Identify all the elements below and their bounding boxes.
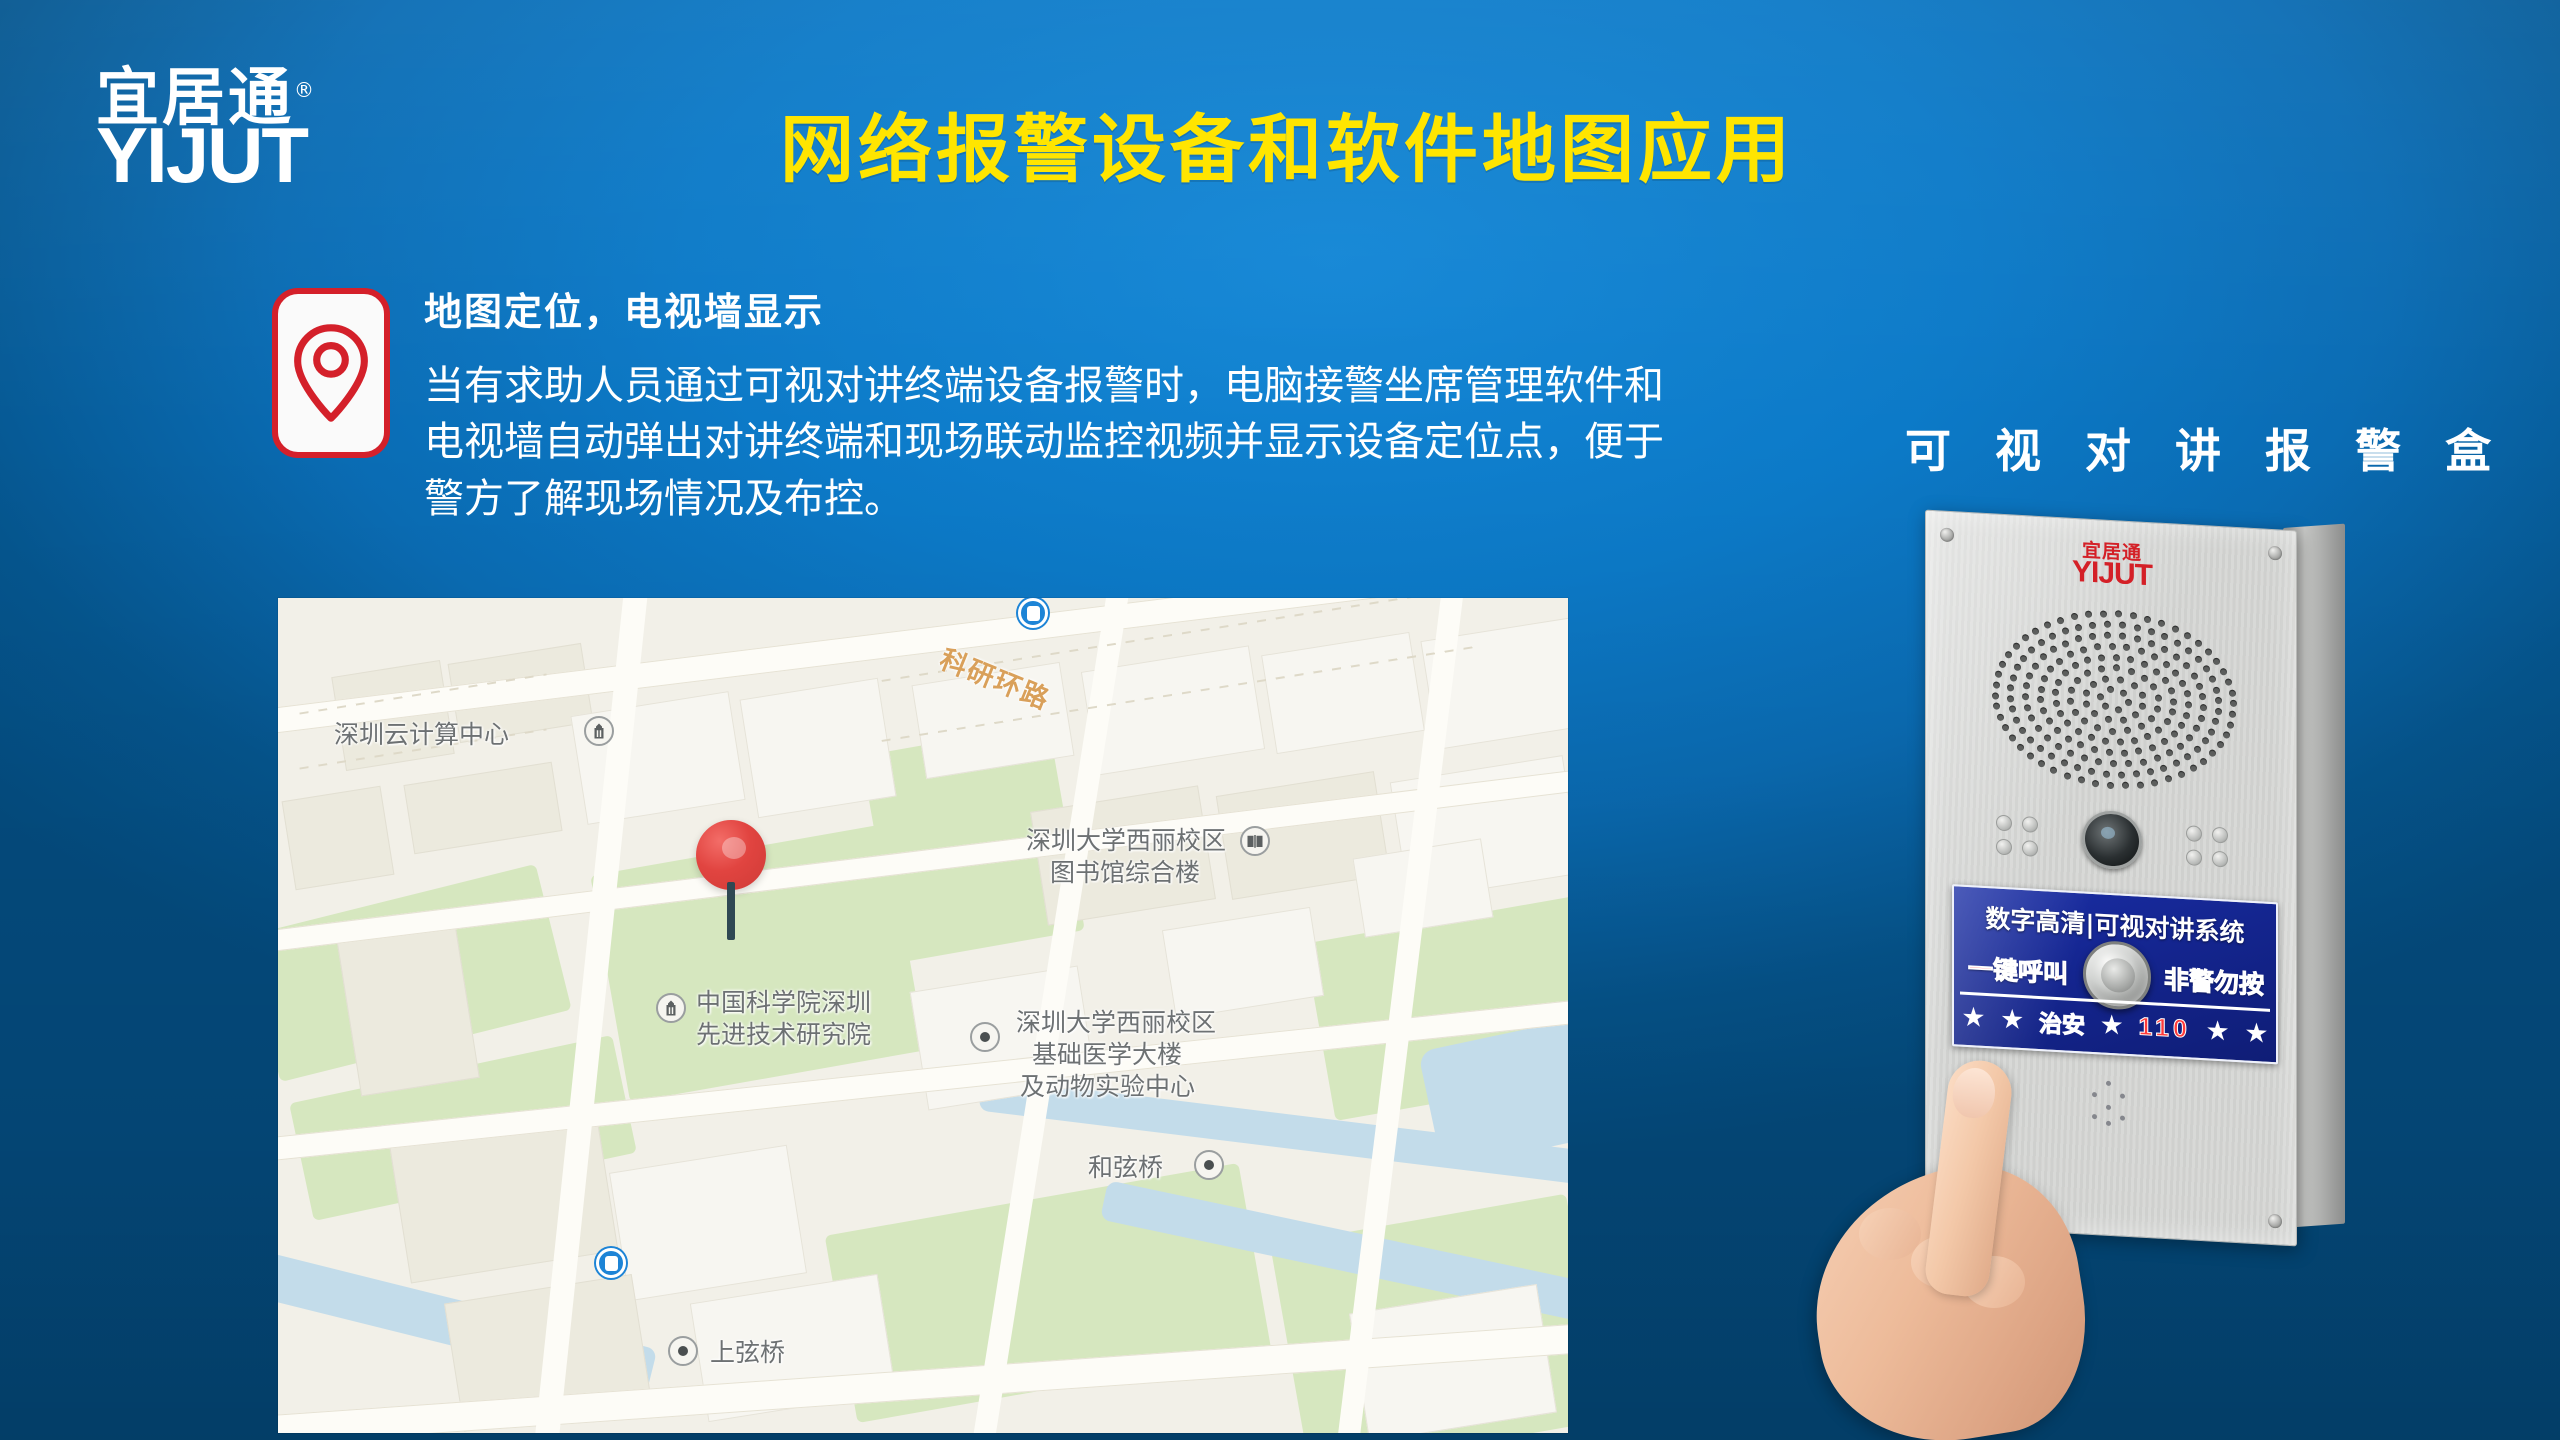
speaker-hole — [2123, 644, 2130, 651]
ir-led-icon — [1996, 815, 2012, 832]
speaker-hole — [2102, 737, 2109, 744]
speaker-hole — [2148, 640, 2155, 647]
speaker-hole — [2213, 658, 2220, 665]
ir-led-icon — [2186, 825, 2202, 842]
building-icon[interactable] — [584, 716, 614, 746]
speaker-hole — [2019, 726, 2026, 733]
speaker-hole — [2209, 750, 2216, 757]
speaker-hole — [2117, 676, 2124, 683]
speaker-hole — [2107, 781, 2114, 788]
speaker-hole — [2038, 639, 2045, 646]
speaker-hole — [2117, 739, 2124, 746]
speaker-hole — [2072, 708, 2079, 715]
speaker-hole — [1992, 692, 1999, 699]
ir-led-icon — [2212, 827, 2228, 844]
screw-icon — [2268, 1214, 2282, 1229]
speaker-hole — [2171, 731, 2178, 738]
hand-knuckle — [1911, 1236, 1973, 1288]
speaker-hole — [2124, 727, 2131, 734]
speaker-hole — [2148, 715, 2155, 722]
speaker-hole — [2040, 654, 2047, 661]
speaker-hole — [2161, 646, 2168, 653]
speaker-hole — [2223, 731, 2230, 738]
map-label-szu-medical-line3: 及动物实验中心 — [1020, 1072, 1195, 1103]
speaker-hole — [2173, 654, 2180, 661]
speaker-hole — [2052, 689, 2059, 696]
speaker-hole — [2074, 677, 2081, 684]
speaker-hole — [2067, 698, 2074, 705]
speaker-hole — [2057, 617, 2064, 624]
speaker-hole — [2106, 749, 2113, 756]
speaker-hole — [2032, 627, 2039, 634]
speaker-hole — [2113, 664, 2120, 671]
speaker-hole — [2170, 698, 2177, 705]
camera-lens-icon — [2082, 809, 2142, 870]
speaker-hole — [2173, 760, 2180, 767]
speaker-hole — [2017, 743, 2024, 750]
speaker-hole — [2056, 658, 2063, 665]
device-label-panel: 数字高清|可视对讲系统 一键呼叫 非警勿按 ★ ★ 治安 ★ 110 ★ ★ — [1952, 884, 2278, 1064]
map-label-szu-medical-line2: 基础医学大楼 — [1032, 1040, 1182, 1071]
speaker-hole — [2109, 643, 2116, 650]
speaker-hole — [2198, 715, 2205, 722]
feature-heading: 地图定位，电视墙显示 — [424, 290, 1679, 336]
speaker-hole — [2165, 775, 2172, 782]
ir-led-icon — [2022, 840, 2038, 857]
speaker-hole — [2067, 749, 2074, 756]
speaker-hole — [2098, 665, 2105, 672]
speaker-hole — [2161, 633, 2168, 640]
microphone-vent-holes — [2086, 1080, 2132, 1125]
vent-hole — [2120, 1116, 2125, 1121]
hand-knuckle — [1859, 1208, 1921, 1260]
speaker-hole — [2089, 622, 2096, 629]
feature-block: 地图定位，电视墙显示 当有求助人员通过可视对讲终端设备报警时，电脑接警坐席管理软… — [272, 288, 1692, 528]
map-screenshot[interactable]: 深圳云计算中心 科研环路 深圳大学西丽校区 图书馆综合楼 中国科学院深圳 先进技… — [278, 598, 1568, 1433]
speaker-hole — [2151, 779, 2158, 786]
speaker-hole — [2172, 670, 2179, 677]
screw-icon — [2268, 546, 2282, 561]
speaker-hole — [2080, 646, 2087, 653]
speaker-hole — [2109, 728, 2116, 735]
speaker-hole — [2113, 654, 2120, 661]
vent-hole — [2106, 1081, 2111, 1086]
map-label-siat-line1: 中国科学院深圳 — [696, 988, 871, 1019]
speaker-hole — [2009, 706, 2016, 713]
ir-led-icon — [2212, 851, 2228, 868]
speaker-hole — [2125, 760, 2132, 767]
speaker-hole — [2120, 716, 2127, 723]
speaker-hole — [2050, 766, 2057, 773]
speaker-hole — [2057, 710, 2064, 717]
vent-hole — [2106, 1121, 2111, 1126]
speaker-hole — [2162, 677, 2169, 684]
speaker-hole — [2098, 654, 2105, 661]
speaker-hole — [1997, 714, 2004, 721]
speaker-hole — [2141, 661, 2148, 668]
star-icon: ★ — [2100, 1009, 2124, 1041]
speaker-hole — [2125, 699, 2132, 706]
speaker-hole — [2081, 755, 2088, 762]
alarm-device-location-pin[interactable] — [696, 820, 772, 942]
speaker-hole — [2040, 707, 2047, 714]
speaker-hole — [2068, 687, 2075, 694]
speaker-hole — [2195, 656, 2202, 663]
speaker-hole — [2062, 669, 2069, 676]
map-label-szu-medical-line1: 深圳大学西丽校区 — [1016, 1008, 1216, 1039]
map-label-szu-library-line1: 深圳大学西丽校区 — [1026, 826, 1226, 857]
public-safety-badge: 治安 — [2039, 1004, 2085, 1041]
speaker-hole — [2196, 682, 2203, 689]
speaker-hole — [2038, 686, 2045, 693]
speaker-hole — [2141, 674, 2148, 681]
speaker-hole — [2115, 706, 2122, 713]
speaker-hole — [2084, 669, 2091, 676]
map-label-layer: 深圳云计算中心 科研环路 深圳大学西丽校区 图书馆综合楼 中国科学院深圳 先进技… — [278, 598, 1568, 1433]
speaker-hole — [2022, 634, 2029, 641]
speaker-hole — [2217, 741, 2224, 748]
speaker-hole — [2169, 708, 2176, 715]
speaker-hole — [1993, 703, 2000, 710]
bus-stop-icon[interactable] — [1018, 598, 1048, 628]
speaker-hole — [2151, 654, 2158, 661]
speaker-hole — [1995, 671, 2002, 678]
speaker-hole — [2220, 668, 2227, 675]
speaker-hole — [2103, 770, 2110, 777]
speaker-hole — [2041, 675, 2048, 682]
speaker-hole — [2102, 703, 2109, 710]
star-icon: ★ — [2000, 1003, 2024, 1035]
speaker-hole — [2154, 705, 2161, 712]
ir-led-icon — [2186, 849, 2202, 866]
speaker-hole — [2027, 736, 2034, 743]
speaker-hole — [2107, 686, 2114, 693]
speaker-hole — [2134, 635, 2141, 642]
speaker-hole — [2191, 672, 2198, 679]
screw-icon — [1940, 527, 1954, 542]
speaker-hole — [2047, 666, 2054, 673]
speaker-hole — [2105, 716, 2112, 723]
device-brand-logo: 宜居通 YIJUT — [2022, 538, 2202, 594]
speaker-hole — [2104, 632, 2111, 639]
speaker-hole — [2083, 701, 2090, 708]
logo-english-label: YIJUT — [96, 121, 436, 190]
speaker-hole — [2227, 721, 2234, 728]
speaker-hole — [2127, 656, 2134, 663]
speaker-hole — [2131, 737, 2138, 744]
speaker-hole — [2202, 737, 2209, 744]
speaker-hole — [2144, 733, 2151, 740]
speaker-hole — [2061, 759, 2068, 766]
speaker-hole — [2044, 734, 2051, 741]
product-title: 可 视 对 讲 报 警 盒 — [1905, 415, 2525, 481]
speaker-hole — [2054, 727, 2061, 734]
speaker-hole — [2160, 765, 2167, 772]
speaker-hole — [2212, 718, 2219, 725]
speaker-hole — [2140, 758, 2147, 765]
speaker-hole — [2139, 691, 2146, 698]
speaker-hole — [2185, 701, 2192, 708]
speaker-hole — [2037, 696, 2044, 703]
ir-led-icon — [2022, 816, 2038, 833]
camera-module — [1996, 805, 2228, 878]
pin-highlight — [722, 837, 746, 859]
speaker-hole — [2065, 735, 2072, 742]
speaker-hole — [2064, 772, 2071, 779]
speaker-hole — [2155, 727, 2162, 734]
speaker-hole — [2002, 724, 2009, 731]
speaker-grille — [1982, 594, 2240, 798]
speaker-hole — [2166, 749, 2173, 756]
speaker-hole — [2104, 621, 2111, 628]
video-intercom-alarm-box: 宜居通 YIJUT 数字高清|可视对讲系统 一键呼叫 非警勿按 — [1925, 520, 2345, 1240]
speaker-hole — [2062, 627, 2069, 634]
speaker-hole — [2194, 746, 2201, 753]
map-road-label-keyan-ring-road: 科研环路 — [935, 638, 1057, 718]
feature-text-group: 地图定位，电视墙显示 当有求助人员通过可视对讲终端设备报警时，电脑接警坐席管理软… — [424, 288, 1679, 528]
speaker-hole — [2067, 651, 2074, 658]
slide-root: 宜居通® YIJUT 网络报警设备和软件地图应用 地图定位，电视墙显示 当有求助… — [0, 0, 2560, 1440]
speaker-hole — [2088, 734, 2095, 741]
speaker-hole — [2064, 719, 2071, 726]
speaker-hole — [2049, 632, 2056, 639]
speaker-hole — [2005, 651, 2012, 658]
speaker-hole — [2163, 661, 2170, 668]
speaker-hole — [2084, 657, 2091, 664]
speaker-hole — [2075, 635, 2082, 642]
speaker-hole — [2149, 744, 2156, 751]
speaker-hole — [2081, 718, 2088, 725]
speaker-hole — [2128, 668, 2135, 675]
speaker-hole — [2074, 764, 2081, 771]
map-label-hexian-bridge: 和弦桥 — [1088, 1153, 1163, 1184]
speaker-hole — [2203, 666, 2210, 673]
speaker-hole — [2055, 678, 2062, 685]
map-label-cloud-computing-center: 深圳云计算中心 — [334, 720, 509, 751]
speaker-hole — [2132, 711, 2139, 718]
speaker-hole — [2090, 681, 2097, 688]
pin-stem — [727, 882, 735, 940]
star-icon: ★ — [1961, 1001, 1985, 1033]
emergency-number-label: 110 — [2139, 1012, 2191, 1044]
speaker-hole — [2007, 695, 2014, 702]
speaker-hole — [2110, 760, 2117, 767]
speaker-hole — [2078, 776, 2085, 783]
speaker-hole — [2072, 662, 2079, 669]
speaker-hole — [2190, 765, 2197, 772]
device-front-panel: 宜居通 YIJUT 数字高清|可视对讲系统 一键呼叫 非警勿按 — [1925, 510, 2297, 1247]
speaker-hole — [2024, 704, 2031, 711]
hand-knuckle — [1963, 1256, 2025, 1308]
speaker-hole — [1999, 661, 2006, 668]
company-logo: 宜居通® YIJUT — [96, 66, 436, 190]
speaker-hole — [2131, 682, 2138, 689]
speaker-hole — [2071, 613, 2078, 620]
speaker-hole — [2229, 689, 2236, 696]
speaker-hole — [2154, 755, 2161, 762]
dot-marker-icon[interactable] — [970, 1022, 1000, 1052]
speaker-hole — [2062, 640, 2069, 647]
speaker-hole — [2193, 725, 2200, 732]
speaker-hole — [2118, 771, 2125, 778]
dot-marker-icon[interactable] — [1194, 1150, 1224, 1180]
speaker-hole — [2097, 693, 2104, 700]
speaker-hole — [2230, 700, 2237, 707]
speaker-hole — [2094, 724, 2101, 731]
speaker-hole — [2014, 664, 2021, 671]
speaker-hole — [2053, 699, 2060, 706]
library-book-icon[interactable] — [1240, 826, 1270, 856]
speaker-hole — [2186, 734, 2193, 741]
speaker-hole — [2100, 610, 2107, 617]
speaker-hole — [2009, 734, 2016, 741]
building-icon[interactable] — [656, 993, 686, 1023]
speaker-hole — [2144, 616, 2151, 623]
speaker-hole — [2135, 748, 2142, 755]
speaker-hole — [2139, 702, 2146, 709]
speaker-hole — [2050, 646, 2057, 653]
speaker-hole — [2153, 668, 2160, 675]
speaker-hole — [2195, 640, 2202, 647]
speaker-hole — [2027, 752, 2034, 759]
speaker-hole — [2147, 768, 2154, 775]
speaker-hole — [2178, 722, 2185, 729]
speaker-hole — [2215, 708, 2222, 715]
speaker-hole — [2091, 746, 2098, 753]
map-label-shangxian-bridge: 上弦桥 — [710, 1338, 785, 1369]
speaker-hole — [2013, 716, 2020, 723]
speaker-hole — [2134, 624, 2141, 631]
speaker-hole — [2172, 626, 2179, 633]
speaker-hole — [2184, 753, 2191, 760]
speaker-hole — [2055, 742, 2062, 749]
map-label-szu-library-line2: 图书馆综合楼 — [1050, 858, 1200, 889]
speaker-hole — [2077, 742, 2084, 749]
emergency-star-row: ★ ★ 治安 ★ 110 ★ ★ — [1954, 994, 2276, 1056]
speaker-hole — [2183, 712, 2190, 719]
vent-hole — [2092, 1114, 2097, 1119]
speaker-hole — [2115, 611, 2122, 618]
speaker-hole — [2200, 758, 2207, 765]
speaker-hole — [2178, 771, 2185, 778]
speaker-hole — [2168, 687, 2175, 694]
speaker-hole — [2028, 646, 2035, 653]
speaker-hole — [2174, 640, 2181, 647]
map-location-pin-icon — [272, 288, 390, 458]
speaker-hole — [2038, 760, 2045, 767]
speaker-hole — [2022, 693, 2029, 700]
vent-hole — [2120, 1094, 2125, 1099]
page-title: 网络报警设备和软件地图应用 — [780, 112, 2120, 190]
speaker-hole — [2037, 744, 2044, 751]
speaker-hole — [2091, 710, 2098, 717]
speaker-hole — [2184, 690, 2191, 697]
star-icon: ★ — [2206, 1015, 2230, 1047]
speaker-hole — [2020, 655, 2027, 662]
map-label-siat-line2: 先进技术研究院 — [696, 1020, 871, 1051]
speaker-hole — [2013, 642, 2020, 649]
registered-trademark-icon: ® — [294, 78, 314, 102]
speaker-hole — [2089, 633, 2096, 640]
speaker-hole — [2094, 643, 2101, 650]
speaker-hole — [1993, 681, 2000, 688]
speaker-hole — [2177, 742, 2184, 749]
speaker-hole — [2185, 647, 2192, 654]
speaker-hole — [2085, 611, 2092, 618]
speaker-hole — [2075, 624, 2082, 631]
vent-hole — [2092, 1092, 2097, 1097]
speaker-hole — [2215, 697, 2222, 704]
speaker-hole — [2138, 648, 2145, 655]
speaker-hole — [2026, 672, 2033, 679]
star-icon: ★ — [2244, 1017, 2268, 1049]
speaker-hole — [2048, 752, 2055, 759]
speaker-hole — [2183, 662, 2190, 669]
speaker-hole — [2119, 633, 2126, 640]
speaker-hole — [2088, 768, 2095, 775]
speaker-hole — [2120, 689, 2127, 696]
speaker-hole — [2137, 781, 2144, 788]
speaker-hole — [2133, 770, 2140, 777]
vent-hole — [2106, 1105, 2111, 1110]
speaker-hole — [2161, 738, 2168, 745]
speaker-hole — [2095, 758, 2102, 765]
speaker-hole — [2083, 690, 2090, 697]
speaker-hole — [2010, 674, 2017, 681]
speaker-hole — [2035, 725, 2042, 732]
speaker-hole — [2184, 632, 2191, 639]
bus-stop-icon[interactable] — [596, 1248, 626, 1278]
speaker-hole — [2209, 676, 2216, 683]
speaker-hole — [2225, 678, 2232, 685]
ir-led-icon — [1996, 839, 2012, 856]
speaker-hole — [2028, 715, 2035, 722]
speaker-hole — [2121, 749, 2128, 756]
no-emergency-no-press-label: 非警勿按 — [2164, 960, 2264, 1002]
speaker-hole — [2122, 782, 2129, 789]
speaker-hole — [2046, 717, 2053, 724]
speaker-hole — [2023, 682, 2030, 689]
speaker-hole — [2119, 622, 2126, 629]
speaker-hole — [2150, 684, 2157, 691]
speaker-hole — [2205, 649, 2212, 656]
speaker-hole — [2138, 723, 2145, 730]
speaker-hole — [2007, 684, 2014, 691]
one-key-call-label: 一键呼叫 — [1968, 949, 2068, 991]
speaker-hole — [2164, 718, 2171, 725]
speaker-hole — [2075, 728, 2082, 735]
speaker-hole — [2179, 680, 2186, 687]
speaker-hole — [2158, 620, 2165, 627]
speaker-hole — [2092, 780, 2099, 787]
speaker-hole — [2155, 694, 2162, 701]
speaker-hole — [2130, 612, 2137, 619]
speaker-hole — [2208, 728, 2215, 735]
feature-body-text: 当有求助人员通过可视对讲终端设备报警时，电脑接警坐席管理软件和电视墙自动弹出对讲… — [424, 358, 1679, 528]
speaker-hole — [2200, 704, 2207, 711]
speaker-hole — [2213, 686, 2220, 693]
speaker-hole — [2199, 693, 2206, 700]
screw-icon — [1940, 1195, 1954, 1210]
speaker-hole — [2032, 662, 2039, 669]
speaker-hole — [2102, 676, 2109, 683]
speaker-hole — [2148, 628, 2155, 635]
speaker-hole — [2044, 621, 2051, 628]
speaker-hole — [2229, 711, 2236, 718]
dot-marker-icon[interactable] — [668, 1336, 698, 1366]
